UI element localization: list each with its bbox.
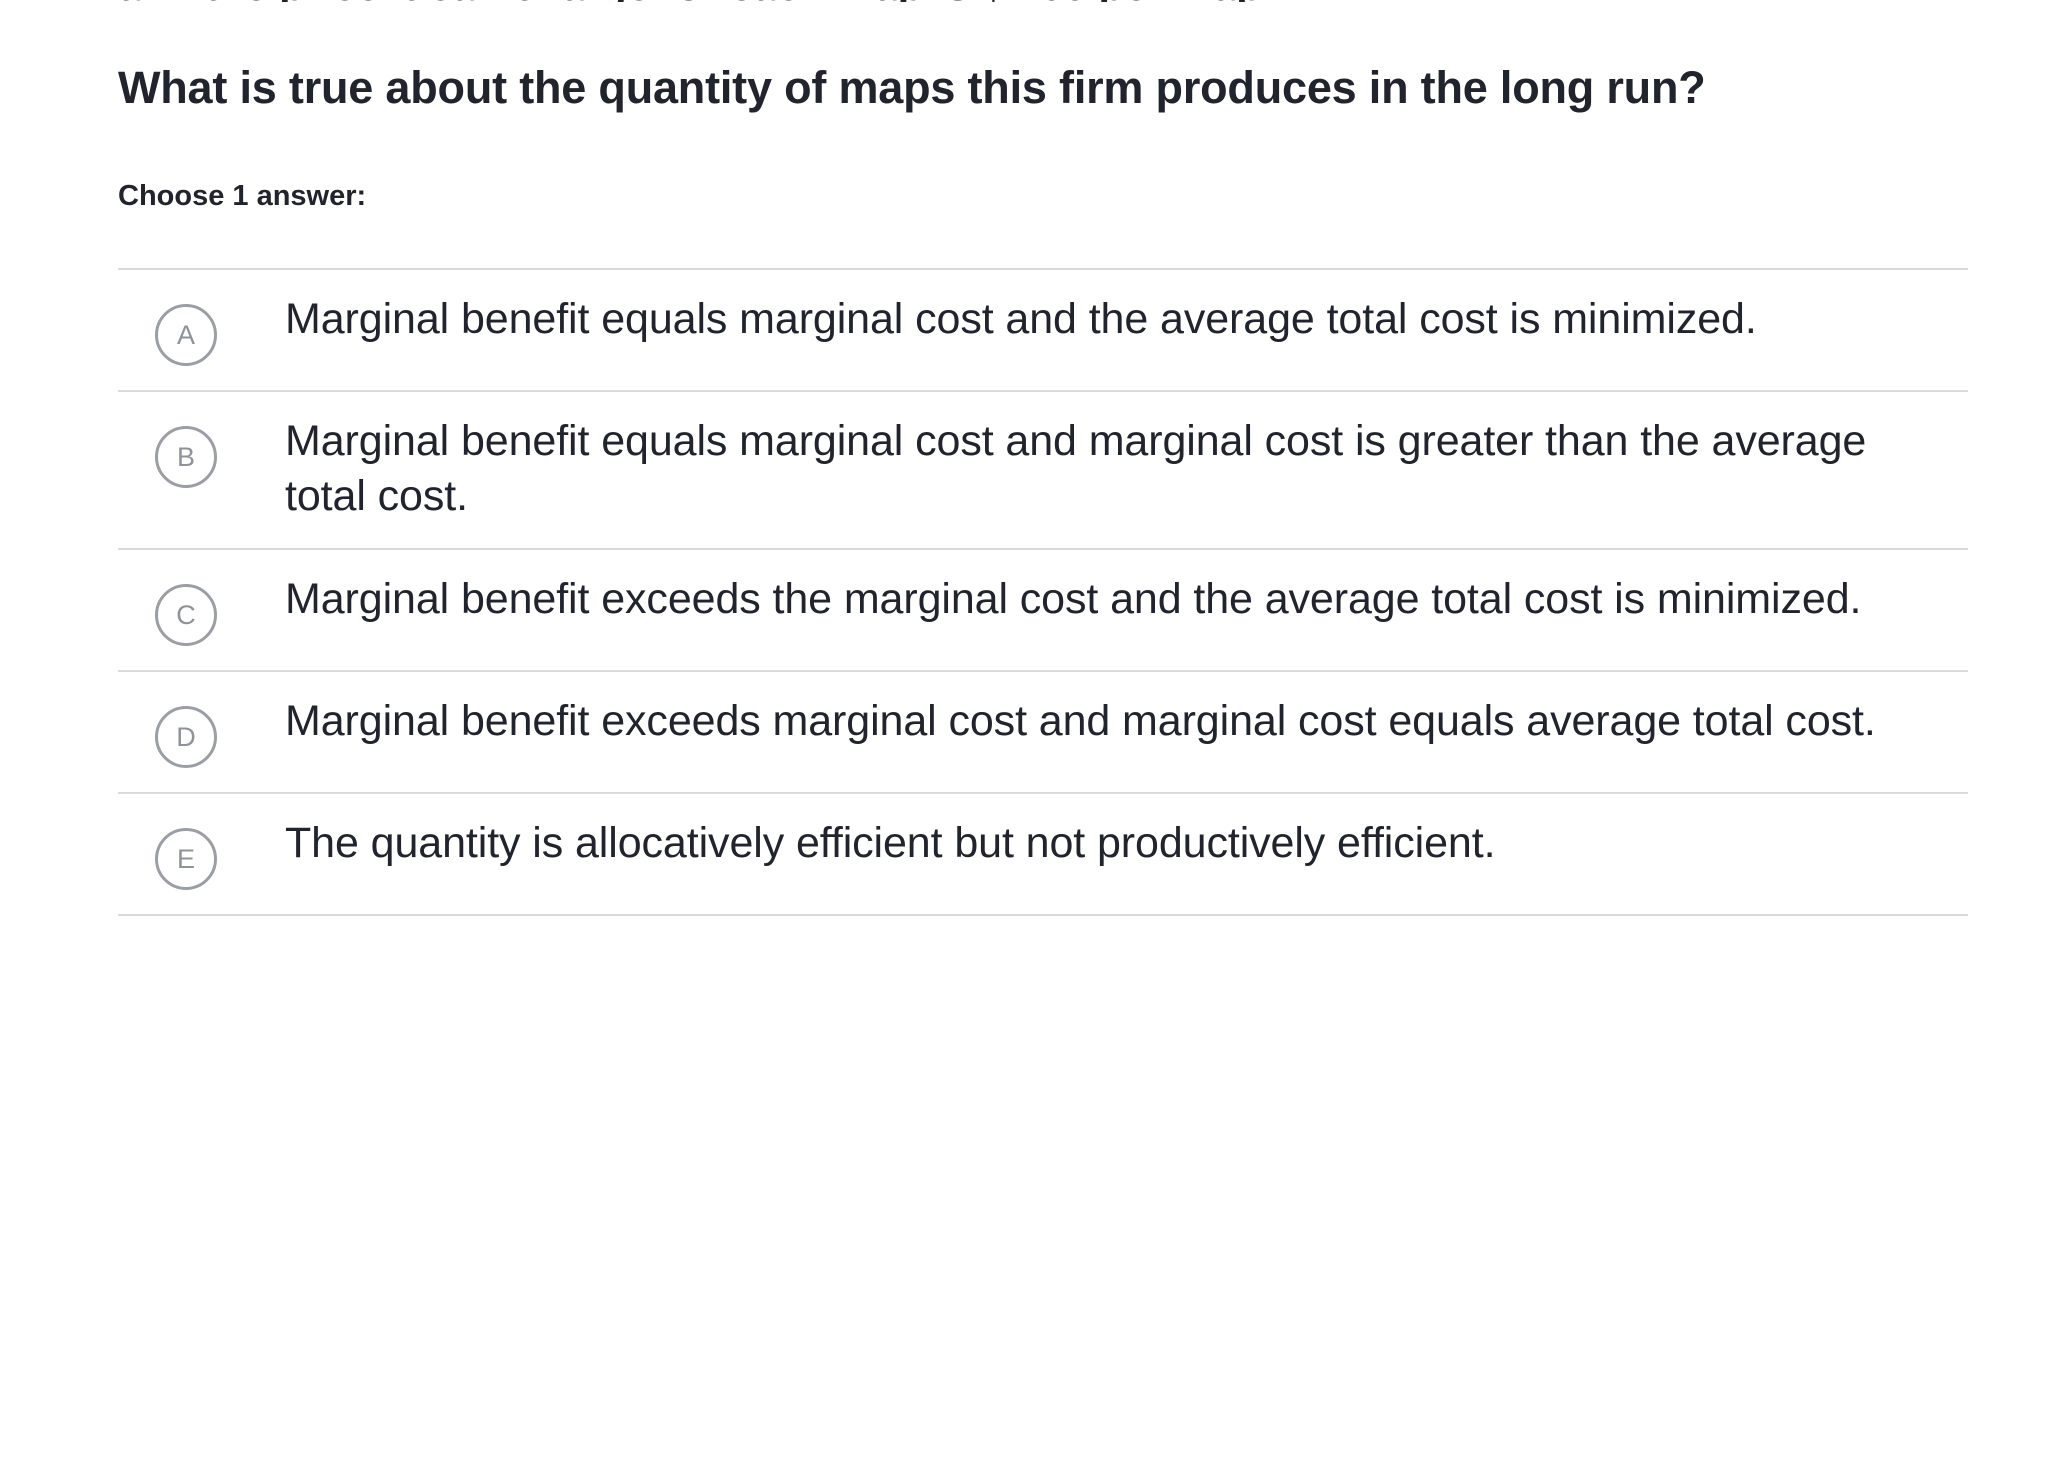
choice-badge-cell-b: B [118,414,285,488]
choice-text-b[interactable]: Marginal benefit equals marginal cost an… [285,414,1968,524]
choose-answer-label: Choose 1 answer: [118,117,1968,214]
choice-option-d[interactable]: D Marginal benefit exceeds marginal cost… [118,672,1968,794]
choice-badge-cell-e: E [118,816,285,890]
choice-badge-cell-d: D [118,694,285,768]
choice-text-e[interactable]: The quantity is allocatively efficient b… [285,816,1968,871]
choice-letter-badge-a[interactable]: A [155,304,217,366]
choice-badge-cell-c: C [118,572,285,646]
multiple-choice-exercise: and the price it can charge for each map… [0,0,2046,1477]
choice-letter-badge-e[interactable]: E [155,828,217,890]
choice-option-c[interactable]: C Marginal benefit exceeds the marginal … [118,550,1968,672]
question-title: What is true about the quantity of maps … [118,0,1918,117]
choice-letter-badge-c[interactable]: C [155,584,217,646]
choice-option-b[interactable]: B Marginal benefit equals marginal cost … [118,392,1968,550]
choice-option-e[interactable]: E The quantity is allocatively efficient… [118,794,1968,916]
choice-badge-cell-a: A [118,292,285,366]
choice-letter-badge-d[interactable]: D [155,706,217,768]
choice-text-d[interactable]: Marginal benefit exceeds marginal cost a… [285,694,1968,749]
choice-letter-badge-b[interactable]: B [155,426,217,488]
question-content: What is true about the quantity of maps … [118,0,1968,916]
choice-text-c[interactable]: Marginal benefit exceeds the marginal co… [285,572,1968,627]
choice-option-a[interactable]: A Marginal benefit equals marginal cost … [118,270,1968,392]
choices-list: A Marginal benefit equals marginal cost … [118,268,1968,916]
choice-text-a[interactable]: Marginal benefit equals marginal cost an… [285,292,1968,347]
